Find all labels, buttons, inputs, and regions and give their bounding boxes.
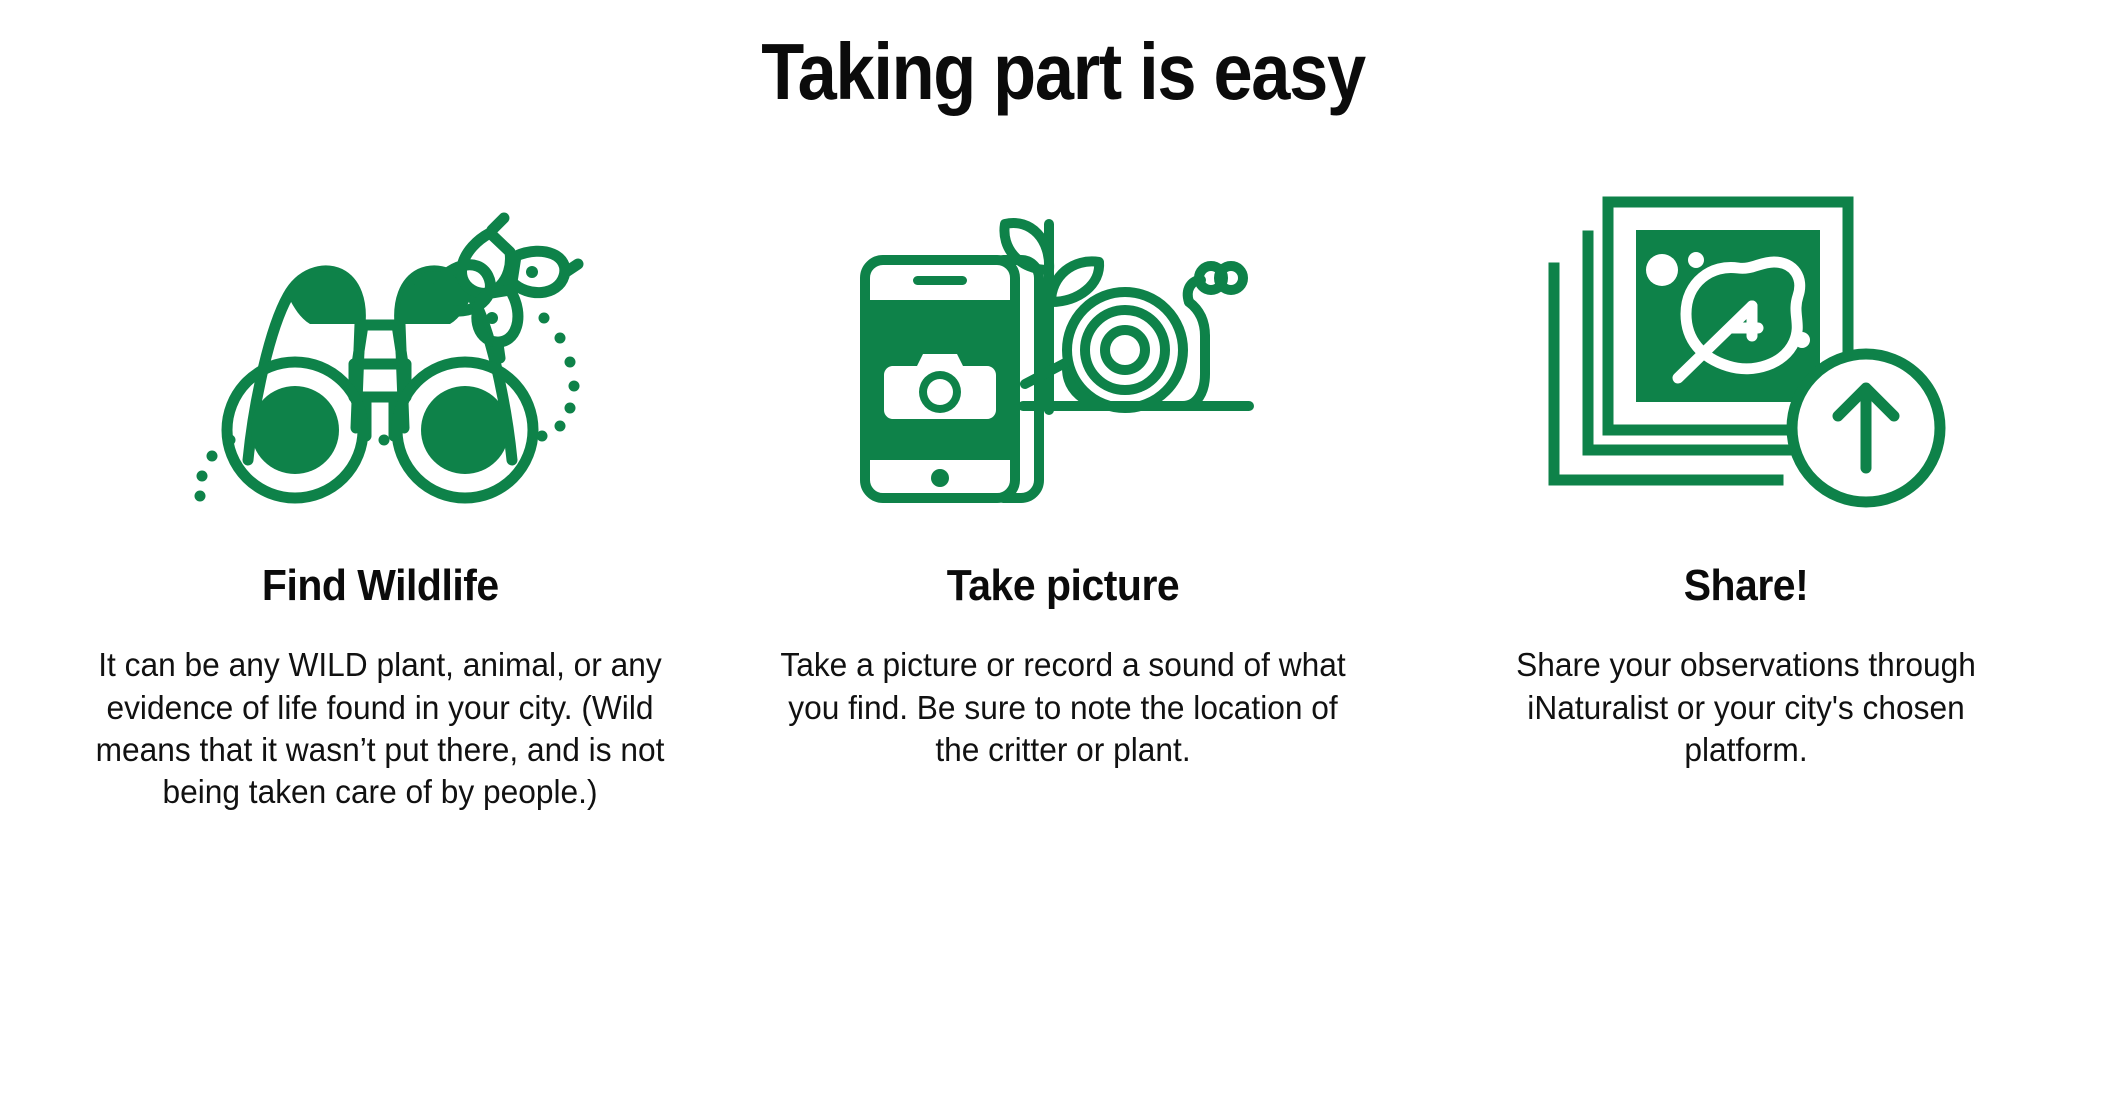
step-body: Take a picture or record a sound of what… [775, 644, 1351, 771]
step-card-take-picture: Take picture Take a picture or record a … [733, 158, 1393, 771]
step-card-find-wildlife: Find Wildlife It can be any WILD plant, … [50, 158, 710, 813]
photo-stack-upload-icon [1536, 158, 1956, 538]
step-body: It can be any WILD plant, animal, or any… [82, 644, 677, 813]
step-title: Find Wildlife [262, 562, 499, 610]
binoculars-butterfly-icon [170, 158, 590, 538]
page-title: Taking part is easy [128, 0, 1999, 114]
infographic-page: Taking part is easy [0, 0, 2126, 1096]
phone-camera-snail-sprout-icon [853, 158, 1273, 538]
steps-row: Find Wildlife It can be any WILD plant, … [0, 114, 2126, 813]
step-body: Share your observations through iNatural… [1468, 644, 2025, 771]
step-title: Take picture [947, 562, 1179, 610]
step-title: Share! [1684, 562, 1809, 610]
step-card-share: Share! Share your observations through i… [1416, 158, 2076, 771]
